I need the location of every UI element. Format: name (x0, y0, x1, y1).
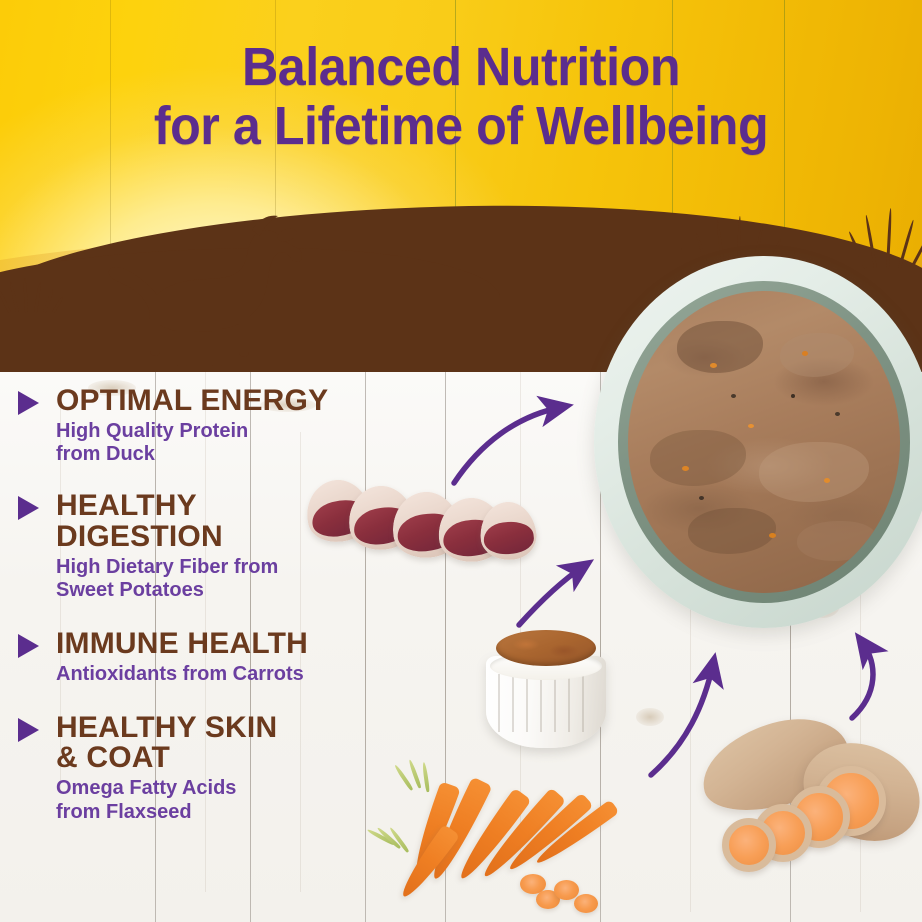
sweet-potato-slice (722, 818, 776, 872)
bowl-of-pate-dog-food (594, 256, 922, 628)
triangle-right-icon (18, 718, 39, 742)
benefit-heading-line: & COAT (56, 743, 414, 774)
ground-flaxseed (496, 630, 596, 666)
benefit-subtext-line: Sweet Potatoes (56, 579, 414, 603)
benefit-item-immune-health: IMMUNE HEALTH Antioxidants from Carrots (14, 629, 414, 686)
wood-knot (636, 708, 664, 726)
dog-silhouette-icon (104, 214, 314, 366)
benefit-heading: IMMUNE HEALTH (56, 629, 414, 660)
triangle-right-icon (18, 391, 39, 415)
title-line-1: Balanced Nutrition (242, 37, 680, 97)
benefit-subtext: Antioxidants from Carrots (56, 663, 414, 687)
carrots (372, 756, 640, 922)
poster-canvas: Balanced Nutrition for a Lifetime of Wel… (0, 0, 922, 922)
benefit-item-healthy-skin-and-coat: HEALTHY SKIN & COAT Omega Fatty Acids fr… (14, 713, 414, 825)
benefit-subtext-line: Antioxidants from Carrots (56, 663, 414, 687)
benefit-heading: OPTIMAL ENERGY (56, 386, 414, 417)
triangle-right-icon (18, 496, 39, 520)
flaxseed-ramekin (486, 630, 606, 748)
benefit-subtext: Omega Fatty Acids from Flaxseed (56, 777, 414, 824)
benefit-heading-line: HEALTHY SKIN (56, 713, 414, 744)
page-title: Balanced Nutrition for a Lifetime of Wel… (32, 38, 889, 157)
pate-food (628, 291, 900, 593)
title-line-2: for a Lifetime of Wellbeing (32, 97, 889, 156)
duck-slices (306, 460, 536, 580)
benefit-heading: HEALTHY SKIN & COAT (56, 713, 414, 775)
benefit-subtext-line: Omega Fatty Acids (56, 777, 414, 801)
benefits-list: OPTIMAL ENERGY High Quality Protein from… (14, 386, 414, 839)
carrot-slice (574, 894, 598, 913)
benefit-subtext-line: High Quality Protein (56, 420, 414, 444)
triangle-right-icon (18, 634, 39, 658)
carrot-top (422, 762, 430, 792)
grass-tuft (6, 278, 76, 312)
benefit-subtext-line: from Flaxseed (56, 801, 414, 825)
sweet-potatoes (694, 714, 922, 922)
benefit-item-optimal-energy: OPTIMAL ENERGY High Quality Protein from… (14, 386, 414, 467)
